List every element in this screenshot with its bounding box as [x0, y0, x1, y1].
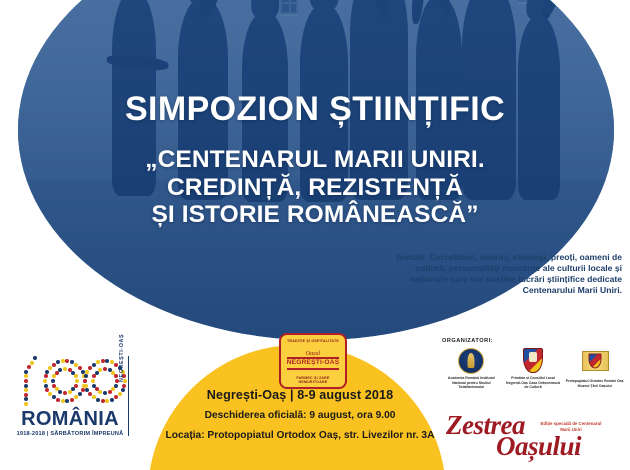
academy-seal-icon	[458, 348, 484, 374]
organizer-item: Academia Română Institutul Național pent…	[442, 348, 501, 390]
event-location-date: Negrești-Oaș | 8-9 august 2018	[150, 388, 450, 402]
organizer-caption: Academia Română Institutul Național pent…	[442, 376, 501, 390]
organizers-block: ORGANIZATORI: Academia Română Institutul…	[442, 338, 624, 390]
badge-oasul-text: Oașul	[279, 351, 347, 357]
digit-one-dots-icon	[24, 356, 38, 406]
page-title: SIMPOZION ȘTIINȚIFIC	[0, 92, 630, 126]
centenary-country-label: ROMÂNIA	[16, 408, 124, 431]
badge-name-text: NEGREȘTI-OAȘ	[279, 359, 347, 366]
invited-guests-label: Invitați:	[397, 252, 428, 262]
orthodox-church-emblem-icon	[582, 351, 608, 377]
organizers-title: ORGANIZATORI:	[442, 338, 624, 344]
centenary-dot-number	[20, 352, 128, 408]
zestrea-word-two: Oașului	[496, 431, 581, 462]
invited-guests-text: Cercetători, istorici, etnologi, preoți,…	[410, 252, 622, 295]
negresti-oas-badge: TRADIȚIE ȘI OSPITALITATE Oașul NEGREȘTI-…	[279, 333, 347, 389]
organizer-caption: Primăria și Consiliul Local Negrești-Oaș…	[504, 376, 563, 390]
invited-guests-block: Invitați: Cercetători, istorici, etnolog…	[384, 252, 622, 296]
zestrea-edition-note: Ediție specială de Centenarul Marii Unir…	[540, 421, 602, 433]
badge-arc-bottom-text: FARMEC ȘI ZARE NEMURITOARE	[285, 376, 341, 384]
subtitle-line-3: ȘI ISTORIE ROMÂNEASCĂ”	[0, 201, 630, 229]
page-subtitle: „CENTENARUL MARII UNIRI. CREDINȚĂ, REZIS…	[0, 146, 630, 229]
centenary-divider	[128, 356, 129, 436]
centenary-vertical-label: NEGREȘTI-OAȘ	[119, 334, 125, 382]
organizers-row: Academia Română Institutul Național pent…	[442, 348, 624, 390]
zestrea-oasului-logo: Zestrea Oașului Ediție specială de Cente…	[438, 408, 616, 462]
subtitle-line-2: CREDINȚĂ, REZISTENȚĂ	[0, 174, 630, 202]
city-coat-of-arms-icon	[520, 348, 546, 374]
badge-divider	[287, 368, 339, 370]
event-details-block: Negrești-Oaș | 8-9 august 2018 Deschider…	[150, 388, 450, 441]
organizer-item: Protopopiatul Ortodox Român Oaș Muzeul Ț…	[565, 348, 624, 390]
centenary-tagline: 1918-2018 | SĂRBĂTORIM ÎMPREUNĂ	[16, 431, 124, 437]
organizer-item: Primăria și Consiliul Local Negrești-Oaș…	[504, 348, 563, 390]
organizer-caption: Protopopiatul Ortodox Român Oaș Muzeul Ț…	[565, 379, 624, 388]
romania-centenary-logo: ROMÂNIA 1918-2018 | SĂRBĂTORIM ÎMPREUNĂ …	[16, 352, 140, 448]
event-opening-time: Deschiderea oficială: 9 august, ora 9.00	[150, 410, 450, 421]
badge-arc-top-text: TRADIȚIE ȘI OSPITALITATE	[285, 339, 341, 343]
poster-canvas: SIMPOZION ȘTIINȚIFIC „CENTENARUL MARII U…	[0, 0, 630, 470]
event-venue-address: Locația: Protopopiatul Ortodox Oaș, str.…	[150, 430, 450, 441]
subtitle-line-1: „CENTENARUL MARII UNIRI.	[0, 146, 630, 174]
